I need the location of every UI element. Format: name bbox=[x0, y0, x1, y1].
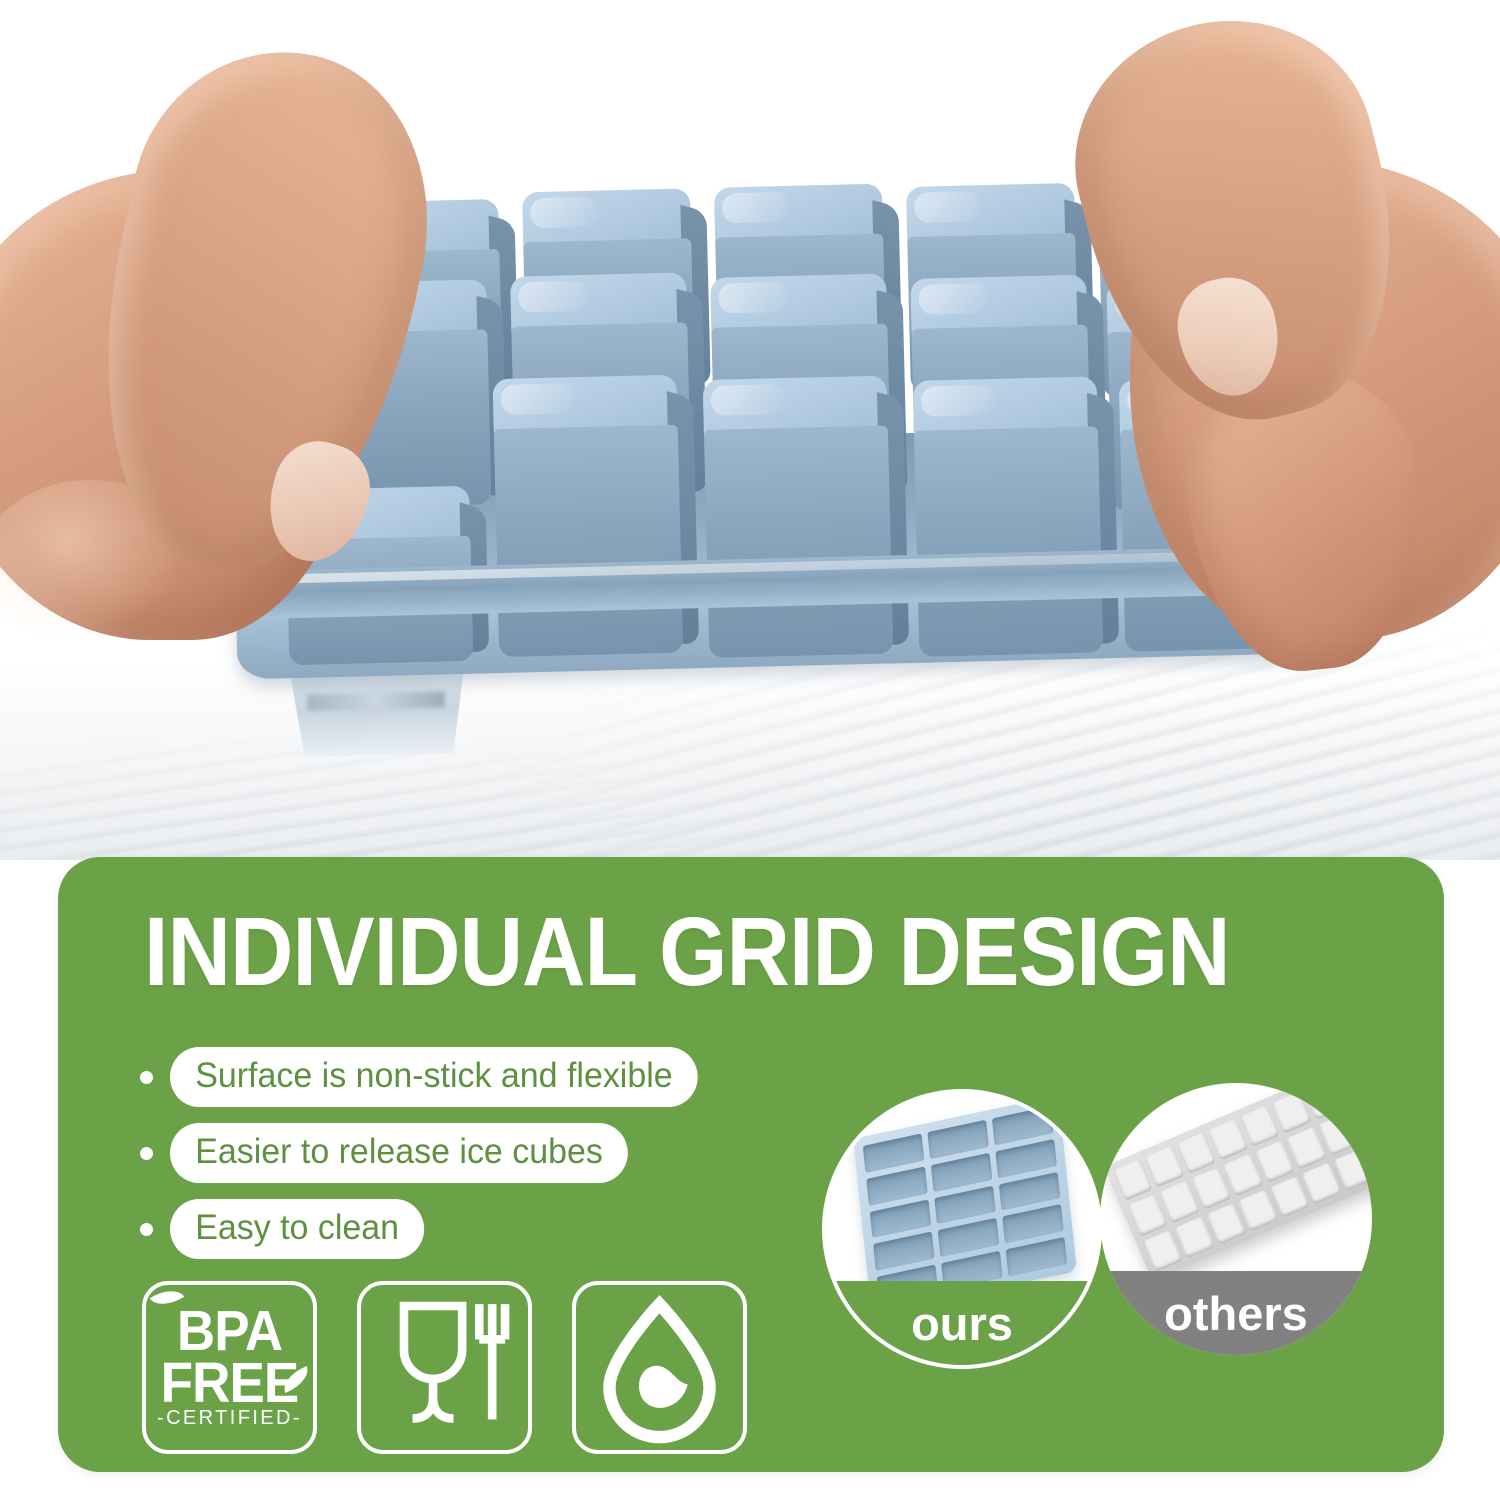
bpa-line-1: BPA bbox=[152, 1305, 307, 1357]
comparison-others: others bbox=[1100, 1083, 1372, 1355]
badge-water-safe bbox=[572, 1281, 747, 1454]
others-tray-thumbnail bbox=[1104, 1083, 1372, 1281]
ours-label-band: ours bbox=[826, 1281, 1098, 1365]
right-hand bbox=[1060, 40, 1500, 680]
feature-panel: INDIVIDUAL GRID DESIGN Surface is non-st… bbox=[58, 857, 1444, 1472]
badge-food-safe bbox=[357, 1281, 532, 1454]
comparison-section: ours others bbox=[818, 1079, 1398, 1409]
feature-pill: Easy to clean bbox=[170, 1199, 424, 1259]
glass-and-fork-icon bbox=[361, 1285, 528, 1450]
badge-bpa-free-text: BPA FREE bbox=[152, 1305, 307, 1409]
feature-pill: Surface is non-stick and flexible bbox=[170, 1047, 698, 1107]
others-label-band: others bbox=[1100, 1271, 1372, 1355]
ours-label: ours bbox=[911, 1300, 1013, 1347]
certification-badges: BPA FREE -CERTIFIED- bbox=[142, 1281, 747, 1454]
others-label: others bbox=[1164, 1290, 1308, 1337]
bpa-line-2: FREE bbox=[152, 1357, 307, 1409]
list-item: Easier to release ice cubes bbox=[140, 1123, 714, 1183]
bullet-dot-icon bbox=[140, 1147, 153, 1160]
list-item: Surface is non-stick and flexible bbox=[140, 1047, 714, 1107]
comparison-ours: ours bbox=[826, 1093, 1098, 1365]
tray-cube bbox=[703, 376, 894, 658]
bullet-dot-icon bbox=[140, 1223, 153, 1236]
product-photo bbox=[0, 0, 1500, 860]
water-droplet-icon bbox=[576, 1285, 743, 1450]
feature-bullet-list: Surface is non-stick and flexible Easier… bbox=[140, 1047, 714, 1275]
others-tray-grid bbox=[1113, 1083, 1372, 1272]
left-hand bbox=[0, 60, 440, 680]
bullet-dot-icon bbox=[140, 1071, 153, 1084]
badge-bpa-certified-caption: -CERTIFIED- bbox=[146, 1407, 313, 1430]
list-item: Easy to clean bbox=[140, 1199, 714, 1259]
badge-bpa-free: BPA FREE -CERTIFIED- bbox=[142, 1281, 317, 1454]
tray-cube bbox=[493, 375, 684, 657]
page-title: INDIVIDUAL GRID DESIGN bbox=[144, 903, 1275, 1000]
ours-tray-grid bbox=[863, 1106, 1067, 1304]
feature-pill: Easier to release ice cubes bbox=[170, 1123, 628, 1183]
